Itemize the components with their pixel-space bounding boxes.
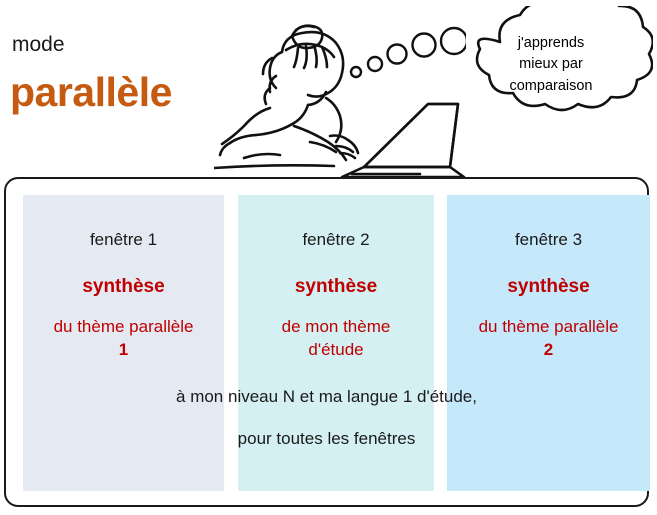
page-title: parallèle — [10, 72, 172, 113]
theme-line-1a: du thème parallèle — [54, 317, 194, 336]
theme-text-1: du thème parallèle 1 — [23, 296, 224, 362]
parallel-mode-box: fenêtre 1 synthèse du thème parallèle 1 … — [4, 177, 649, 507]
theme-text-2: de mon thème d'étude — [238, 296, 434, 362]
synthesis-label-3: synthèse — [447, 248, 650, 296]
thought-line-3: comparaison — [509, 78, 592, 94]
synthesis-label-1: synthèse — [23, 248, 224, 296]
thought-line-2: mieux par — [519, 56, 583, 72]
window-label-1: fenêtre 1 — [23, 195, 224, 248]
mode-label: mode — [12, 34, 65, 55]
theme-line-2a: de mon thème — [282, 317, 391, 336]
header-region: mode parallèle — [0, 0, 657, 177]
theme-line-3a: du thème parallèle — [479, 317, 619, 336]
window-label-3: fenêtre 3 — [447, 195, 650, 248]
window-panel-3[interactable]: fenêtre 3 synthèse du thème parallèle 2 — [447, 195, 650, 491]
theme-text-3: du thème parallèle 2 — [447, 296, 650, 362]
thought-bubble-text: j'apprends mieux par comparaison — [470, 33, 632, 97]
theme-line-1b: 1 — [119, 340, 128, 359]
synthesis-label-2: synthèse — [238, 248, 434, 296]
thought-line-1: j'apprends — [518, 35, 584, 51]
theme-line-3b: 2 — [544, 340, 553, 359]
theme-line-2b: d'étude — [308, 340, 363, 359]
window-label-2: fenêtre 2 — [238, 195, 434, 248]
window-panel-2[interactable]: fenêtre 2 synthèse de mon thème d'étude — [238, 195, 434, 491]
window-panel-1[interactable]: fenêtre 1 synthèse du thème parallèle 1 — [23, 195, 224, 491]
